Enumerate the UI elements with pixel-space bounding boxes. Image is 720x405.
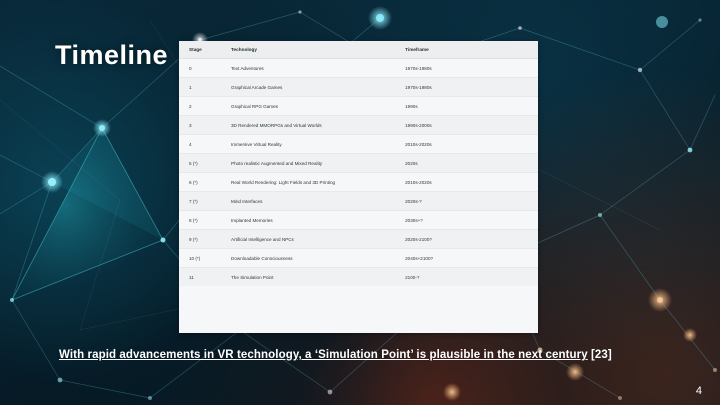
table-row: 11The Simulation Point2100-? — [179, 268, 538, 287]
cell-stage: 7 (*) — [179, 192, 221, 211]
cell-technology: Real World Rendering: Light Fields and 3… — [221, 173, 395, 192]
table-row: 0Text Adventures1970s-1980s — [179, 59, 538, 78]
cell-technology: Graphical RPG Games — [221, 97, 395, 116]
cell-timeframe: 1990s — [395, 97, 472, 116]
cell-technology: Mind Interfaces — [221, 192, 395, 211]
table-row: 6 (*)Real World Rendering: Light Fields … — [179, 173, 538, 192]
cell-timeframe: 2020s — [395, 154, 472, 173]
cell-extra — [472, 59, 538, 78]
cell-technology: Artificial Intelligence and NPCs — [221, 230, 395, 249]
table-header-row: Stage Technology Timeframe — [179, 41, 538, 59]
table-row: 2Graphical RPG Games1990s — [179, 97, 538, 116]
column-header-technology: Technology — [221, 41, 395, 59]
cell-timeframe: 2100-? — [395, 268, 472, 287]
cell-technology: Downloadable Consciousness — [221, 249, 395, 268]
table-row: 9 (*)Artificial Intelligence and NPCs202… — [179, 230, 538, 249]
cell-stage: 8 (*) — [179, 211, 221, 230]
cell-stage: 2 — [179, 97, 221, 116]
cell-timeframe: 2010s-2020s — [395, 135, 472, 154]
cell-timeframe: 2020s-? — [395, 192, 472, 211]
page-number: 4 — [696, 385, 702, 397]
cell-stage: 1 — [179, 78, 221, 97]
cell-timeframe: 1970s-1980s — [395, 59, 472, 78]
cell-extra — [472, 230, 538, 249]
cell-extra — [472, 78, 538, 97]
cell-stage: 4 — [179, 135, 221, 154]
presentation-slide: Timeline Stage Technology Timeframe 0Tex… — [0, 0, 720, 405]
table-row: 7 (*)Mind Interfaces2020s-? — [179, 192, 538, 211]
cell-timeframe: 2030s+? — [395, 211, 472, 230]
cell-extra — [472, 97, 538, 116]
cell-extra — [472, 173, 538, 192]
cell-timeframe: 1970s-1980s — [395, 78, 472, 97]
cell-extra — [472, 116, 538, 135]
cell-timeframe: 2010s-2020s — [395, 173, 472, 192]
column-header-empty — [472, 41, 538, 59]
cell-technology: The Simulation Point — [221, 268, 395, 287]
cell-stage: 11 — [179, 268, 221, 287]
cell-stage: 3 — [179, 116, 221, 135]
cell-technology: Photo realistic Augmented and Mixed Real… — [221, 154, 395, 173]
timeline-table: Stage Technology Timeframe 0Text Adventu… — [179, 41, 538, 286]
cell-stage: 6 (*) — [179, 173, 221, 192]
cell-technology: Graphical Arcade Games — [221, 78, 395, 97]
cell-timeframe: 2020s-2100? — [395, 230, 472, 249]
cell-extra — [472, 268, 538, 287]
cell-extra — [472, 135, 538, 154]
cell-stage: 10 (*) — [179, 249, 221, 268]
cell-extra — [472, 192, 538, 211]
cell-timeframe: 1990s-2000s — [395, 116, 472, 135]
table-row: 4Immersive Virtual Reality2010s-2020s — [179, 135, 538, 154]
caption-underlined-text: With rapid advancements in VR technology… — [59, 349, 588, 361]
cell-extra — [472, 249, 538, 268]
slide-title: Timeline — [55, 40, 168, 71]
table-row: 1Graphical Arcade Games1970s-1980s — [179, 78, 538, 97]
table-row: 5 (*)Photo realistic Augmented and Mixed… — [179, 154, 538, 173]
caption-reference: [23] — [588, 349, 612, 361]
column-header-timeframe: Timeframe — [395, 41, 472, 59]
cell-timeframe: 2040s+2100? — [395, 249, 472, 268]
cell-technology: Immersive Virtual Reality — [221, 135, 395, 154]
timeline-table-card: Stage Technology Timeframe 0Text Adventu… — [179, 41, 538, 333]
cell-technology: Implanted Memories — [221, 211, 395, 230]
cell-extra — [472, 211, 538, 230]
cell-stage: 9 (*) — [179, 230, 221, 249]
cell-technology: 3D Rendered MMORPGs and Virtual Worlds — [221, 116, 395, 135]
table-row: 33D Rendered MMORPGs and Virtual Worlds1… — [179, 116, 538, 135]
cell-extra — [472, 154, 538, 173]
table-row: 8 (*)Implanted Memories2030s+? — [179, 211, 538, 230]
column-header-stage: Stage — [179, 41, 221, 59]
slide-caption: With rapid advancements in VR technology… — [59, 349, 659, 361]
cell-stage: 0 — [179, 59, 221, 78]
cell-stage: 5 (*) — [179, 154, 221, 173]
table-row: 10 (*)Downloadable Consciousness2040s+21… — [179, 249, 538, 268]
cell-technology: Text Adventures — [221, 59, 395, 78]
table-body: 0Text Adventures1970s-1980s1Graphical Ar… — [179, 59, 538, 287]
